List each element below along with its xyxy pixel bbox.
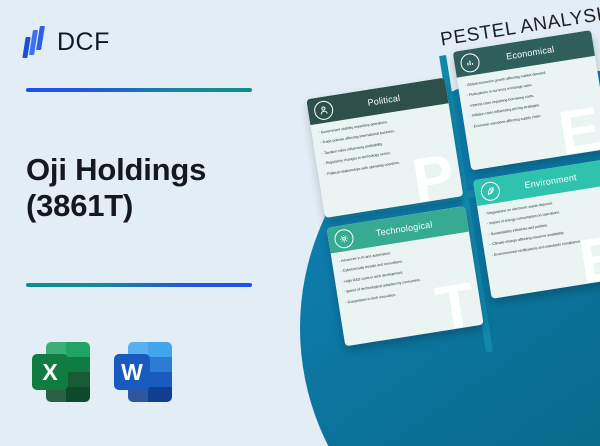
company-name: Oji Holdings bbox=[26, 152, 276, 188]
brand-name: DCF bbox=[57, 30, 110, 55]
excel-badge-letter: X bbox=[32, 354, 68, 390]
word-icon[interactable]: W bbox=[114, 338, 172, 406]
slide-canvas: DCF Oji Holdings (3861T) X W bbox=[0, 0, 600, 446]
leaf-circle-icon bbox=[479, 180, 501, 202]
pestel-card-technological-body: T - Advances in AI and automation. - Cyb… bbox=[331, 232, 484, 347]
pestel-card-economical[interactable]: Economical E - Global economic growth af… bbox=[453, 30, 600, 170]
pestel-card-technological[interactable]: Technological T - Advances in AI and aut… bbox=[327, 206, 484, 346]
download-format-icons: X W bbox=[32, 338, 172, 406]
company-ticker: (3861T) bbox=[26, 188, 276, 224]
pestel-card-environment[interactable]: Environment E - Regulations on electroni… bbox=[473, 158, 600, 298]
divider-bottom bbox=[26, 283, 252, 287]
person-circle-icon bbox=[313, 99, 335, 121]
gear-circle-icon bbox=[333, 227, 355, 249]
word-badge-letter: W bbox=[114, 354, 150, 390]
excel-icon[interactable]: X bbox=[32, 338, 90, 406]
page-title: Oji Holdings (3861T) bbox=[26, 152, 276, 224]
pestel-analysis-graphic: PESTEL ANALYSIS Political P - Government… bbox=[288, 0, 600, 361]
left-info-panel: DCF Oji Holdings (3861T) X W bbox=[0, 0, 300, 446]
brand-logo[interactable]: DCF bbox=[24, 26, 110, 58]
divider-top bbox=[26, 88, 252, 92]
pestel-card-political[interactable]: Political P - Government stability impac… bbox=[306, 78, 463, 218]
dcf-bars-icon bbox=[24, 26, 50, 58]
bar-chart-circle-icon bbox=[459, 51, 481, 73]
